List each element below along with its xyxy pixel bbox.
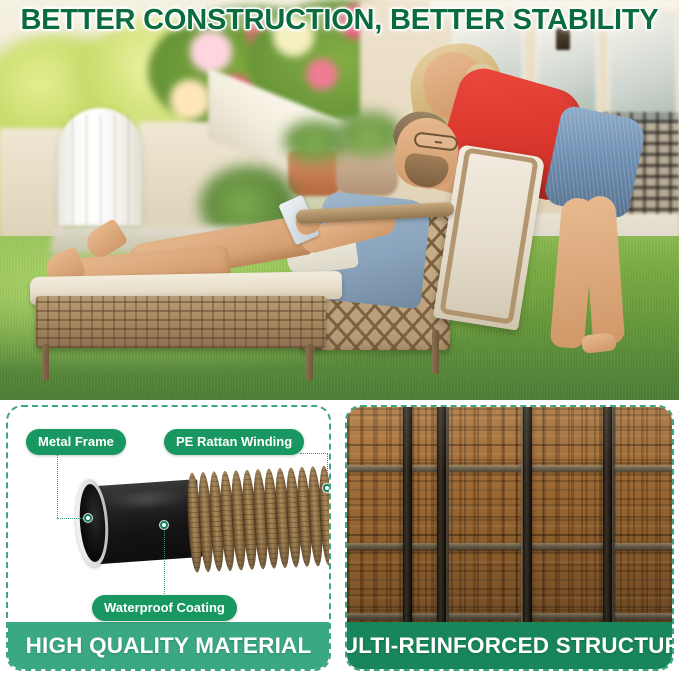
potted-plant [336, 112, 402, 156]
garden-wall-left [0, 128, 64, 238]
chaise-leg [432, 330, 439, 374]
hero-photo: BETTER CONSTRUCTION, BETTER STABILITY [0, 0, 679, 400]
label-metal-frame: Metal Frame [26, 429, 126, 455]
label-waterproof-coating: Waterproof Coating [92, 595, 237, 621]
marker-dot-metal-frame [84, 514, 92, 522]
leader-line-metal-frame [57, 453, 58, 518]
chaise-leg [306, 344, 313, 380]
weave-shading [347, 407, 672, 626]
leader-line-pe-rattan [300, 453, 328, 454]
garden-gate [58, 108, 142, 226]
chaise-wicker-base [36, 296, 326, 348]
leader-line-pe-rattan [327, 453, 328, 487]
caption-multi-reinforced-structure: MULTI-REINFORCED STRUCTURE [347, 622, 672, 669]
rattan-winding [185, 465, 329, 573]
marker-dot-waterproof [160, 521, 168, 529]
marker-dot-pe-rattan [323, 484, 329, 492]
panel-high-quality-material: Metal Frame PE Rattan Winding Waterproof… [6, 405, 331, 671]
caption-high-quality-material: HIGH QUALITY MATERIAL [8, 622, 329, 669]
rattan-weave-photo [347, 407, 672, 626]
label-pe-rattan-winding: PE Rattan Winding [164, 429, 304, 455]
page-title: BETTER CONSTRUCTION, BETTER STABILITY [0, 4, 679, 37]
leader-line-waterproof [164, 528, 165, 594]
panel-multi-reinforced-structure: MULTI-REINFORCED STRUCTURE [345, 405, 674, 671]
woman-foot [581, 332, 617, 353]
chaise-leg [42, 344, 49, 380]
feature-panels: Metal Frame PE Rattan Winding Waterproof… [0, 400, 679, 675]
